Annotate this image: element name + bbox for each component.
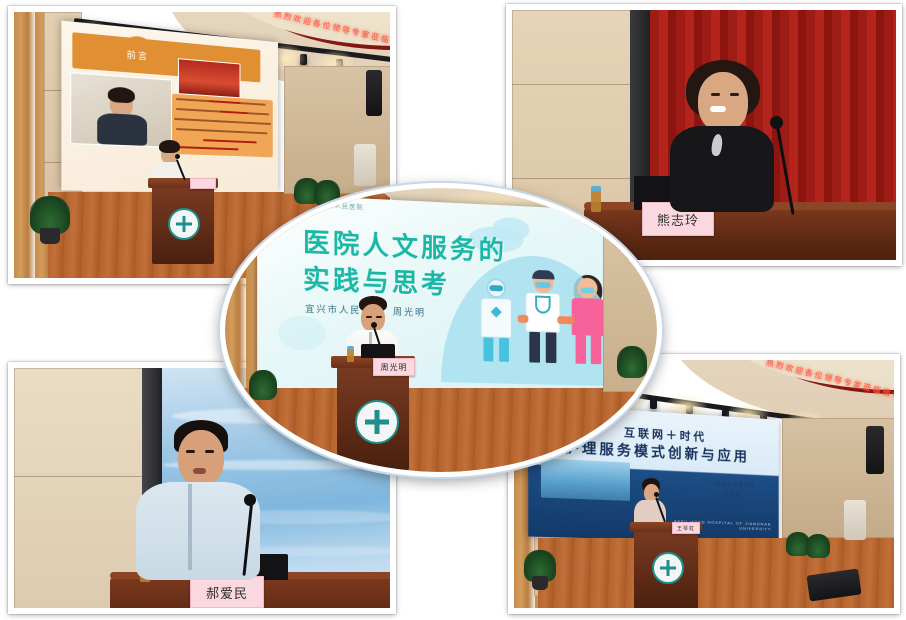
potted-plant [617,346,647,378]
slide-congress-thumbnail [178,58,240,98]
photo-center-oval[interactable]: 宜兴市人民医院 医院人文服务的 实践与思考 宜兴市人民医院 周光明 [220,183,662,477]
slide-humanistic-service: 宜兴市人民医院 医院人文服务的 实践与思考 宜兴市人民医院 周光明 [257,193,606,395]
speaker-person-tr [660,60,790,210]
potted-plant [249,370,277,400]
figure-doctor-icon [522,271,564,363]
microphone-icon [371,322,377,328]
water-bottle [347,346,354,362]
nameplate-bl: 郝爱民 [190,576,264,608]
slide-presenter: 王琴虹 [699,490,765,500]
ac-unit [354,144,376,186]
presentation-screen-center: 宜兴市人民医院 医院人文服务的 实践与思考 宜兴市人民医院 周光明 [257,193,606,395]
plant-pot [532,576,548,590]
loudspeaker [366,70,382,116]
hospital-logo-icon [168,208,200,240]
auditorium-scene-center: 宜兴市人民医院 医院人文服务的 实践与思考 宜兴市人民医院 周光明 [225,188,657,472]
laptop-center [361,344,395,358]
stethoscope-icon [535,296,550,314]
ac-unit [844,500,866,540]
slide-affiliation: 江南大学附属医院 [699,480,765,490]
figure-protective-suit-icon [477,278,516,363]
microphone-icon [654,492,659,497]
nameplate-center: 周光明 [373,358,415,376]
hospital-logo-icon [355,400,399,444]
slide-portrait-photo [70,72,172,148]
nameplate-tl [190,178,216,189]
microphone-icon [175,154,180,159]
plant-pot [40,228,60,244]
slide-hospital-logo: 宜兴市人民医院 [313,200,363,212]
potted-plant [806,534,830,558]
hospital-logo-icon [652,552,684,584]
photo-collage: 热烈欢迎各位领导专家莅临指导 前言 [0,0,906,620]
nameplate-br: 王琴虹 [672,522,700,534]
loudspeaker [866,426,884,474]
figure-nurse-icon [568,277,606,364]
